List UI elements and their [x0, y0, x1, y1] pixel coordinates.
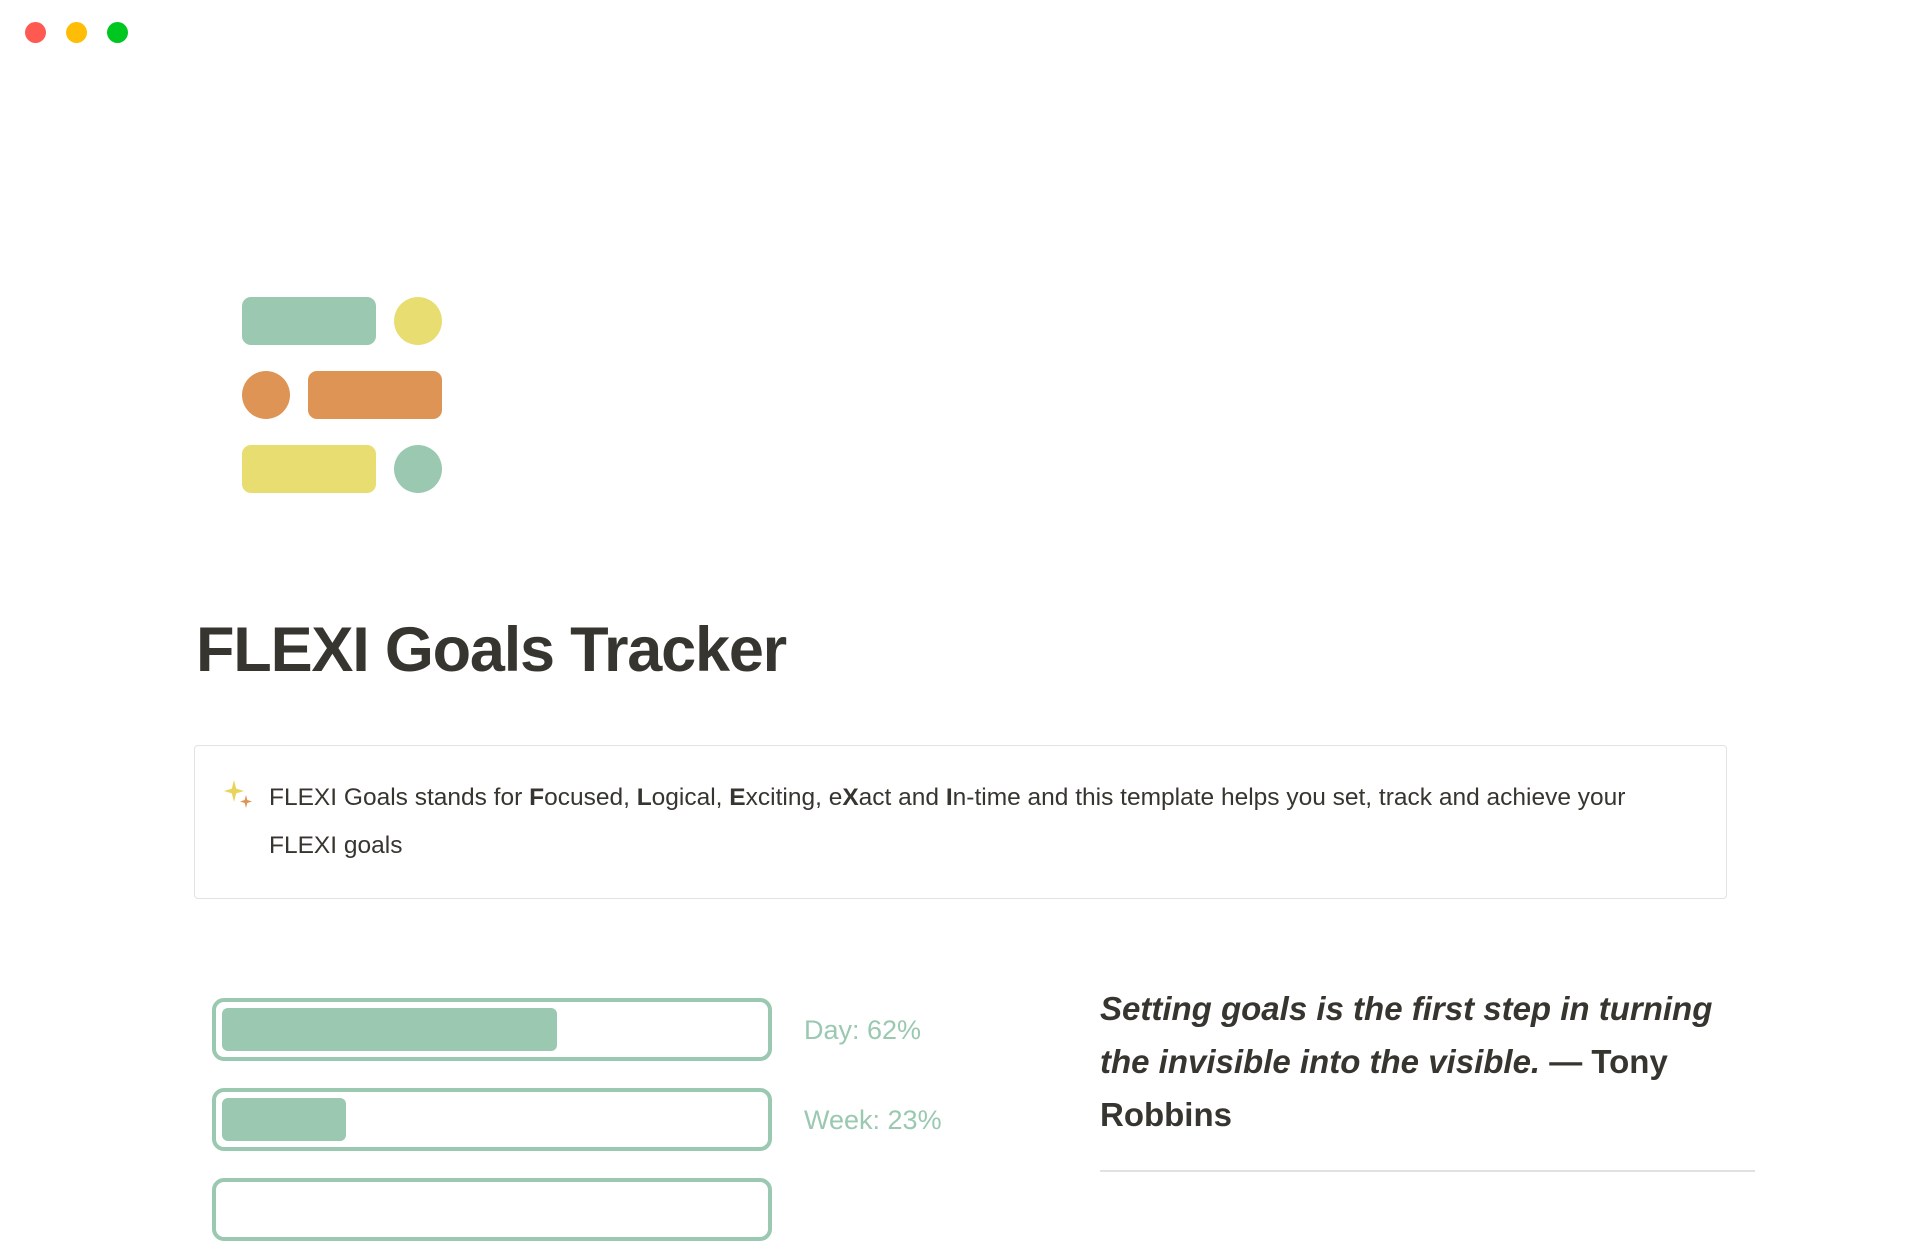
- progress-bar-day[interactable]: [212, 998, 772, 1061]
- callout-segment-7: X: [842, 784, 858, 811]
- callout-segment-6: xciting, e: [746, 784, 843, 811]
- callout-segment-3: L: [637, 784, 652, 811]
- progress-list: Day: 62% Week: 23%: [212, 998, 932, 1241]
- flexi-goals-logo-icon: [242, 297, 452, 493]
- progress-fill-day: [222, 1008, 557, 1051]
- callout-segment-2: ocused,: [544, 784, 637, 811]
- logo-dot-yellow: [394, 297, 442, 345]
- window-titlebar: [0, 0, 1920, 70]
- progress-bar-month[interactable]: [212, 1178, 772, 1241]
- logo-dot-orange: [242, 371, 290, 419]
- callout-text: FLEXI Goals stands for Focused, Logical,…: [269, 774, 1696, 870]
- progress-label-week: Week: 23%: [804, 1104, 942, 1136]
- page-title: FLEXI Goals Tracker: [196, 612, 786, 688]
- logo-dot-green: [394, 445, 442, 493]
- logo-bar-orange: [308, 371, 442, 419]
- quote-block: Setting goals is the first step in turni…: [1100, 982, 1760, 1172]
- callout-segment-5: E: [729, 784, 745, 811]
- quote-divider: [1100, 1170, 1755, 1172]
- callout-segment-8: act and: [859, 784, 946, 811]
- quote-text: Setting goals is the first step in turni…: [1100, 982, 1760, 1141]
- logo-row-1: [242, 297, 452, 345]
- traffic-lights: [25, 22, 128, 43]
- minimize-window-button[interactable]: [66, 22, 87, 43]
- logo-bar-green: [242, 297, 376, 345]
- callout-segment-1: F: [529, 784, 544, 811]
- progress-row-month: [212, 1178, 932, 1241]
- maximize-window-button[interactable]: [107, 22, 128, 43]
- progress-row-day: Day: 62%: [212, 998, 932, 1061]
- progress-label-day: Day: 62%: [804, 1014, 921, 1046]
- logo-bar-yellow: [242, 445, 376, 493]
- logo-row-3: [242, 445, 452, 493]
- progress-row-week: Week: 23%: [212, 1088, 932, 1151]
- callout-segment-0: FLEXI Goals stands for: [269, 784, 529, 811]
- callout-box: FLEXI Goals stands for Focused, Logical,…: [194, 745, 1727, 899]
- callout-segment-4: ogical,: [652, 784, 730, 811]
- close-window-button[interactable]: [25, 22, 46, 43]
- callout-segment-9: I: [946, 784, 953, 811]
- sparkles-icon: [221, 779, 255, 813]
- logo-row-2: [242, 371, 452, 419]
- progress-fill-week: [222, 1098, 346, 1141]
- progress-bar-week[interactable]: [212, 1088, 772, 1151]
- page-canvas: FLEXI Goals Tracker FLEXI Goals stands f…: [0, 0, 1920, 1200]
